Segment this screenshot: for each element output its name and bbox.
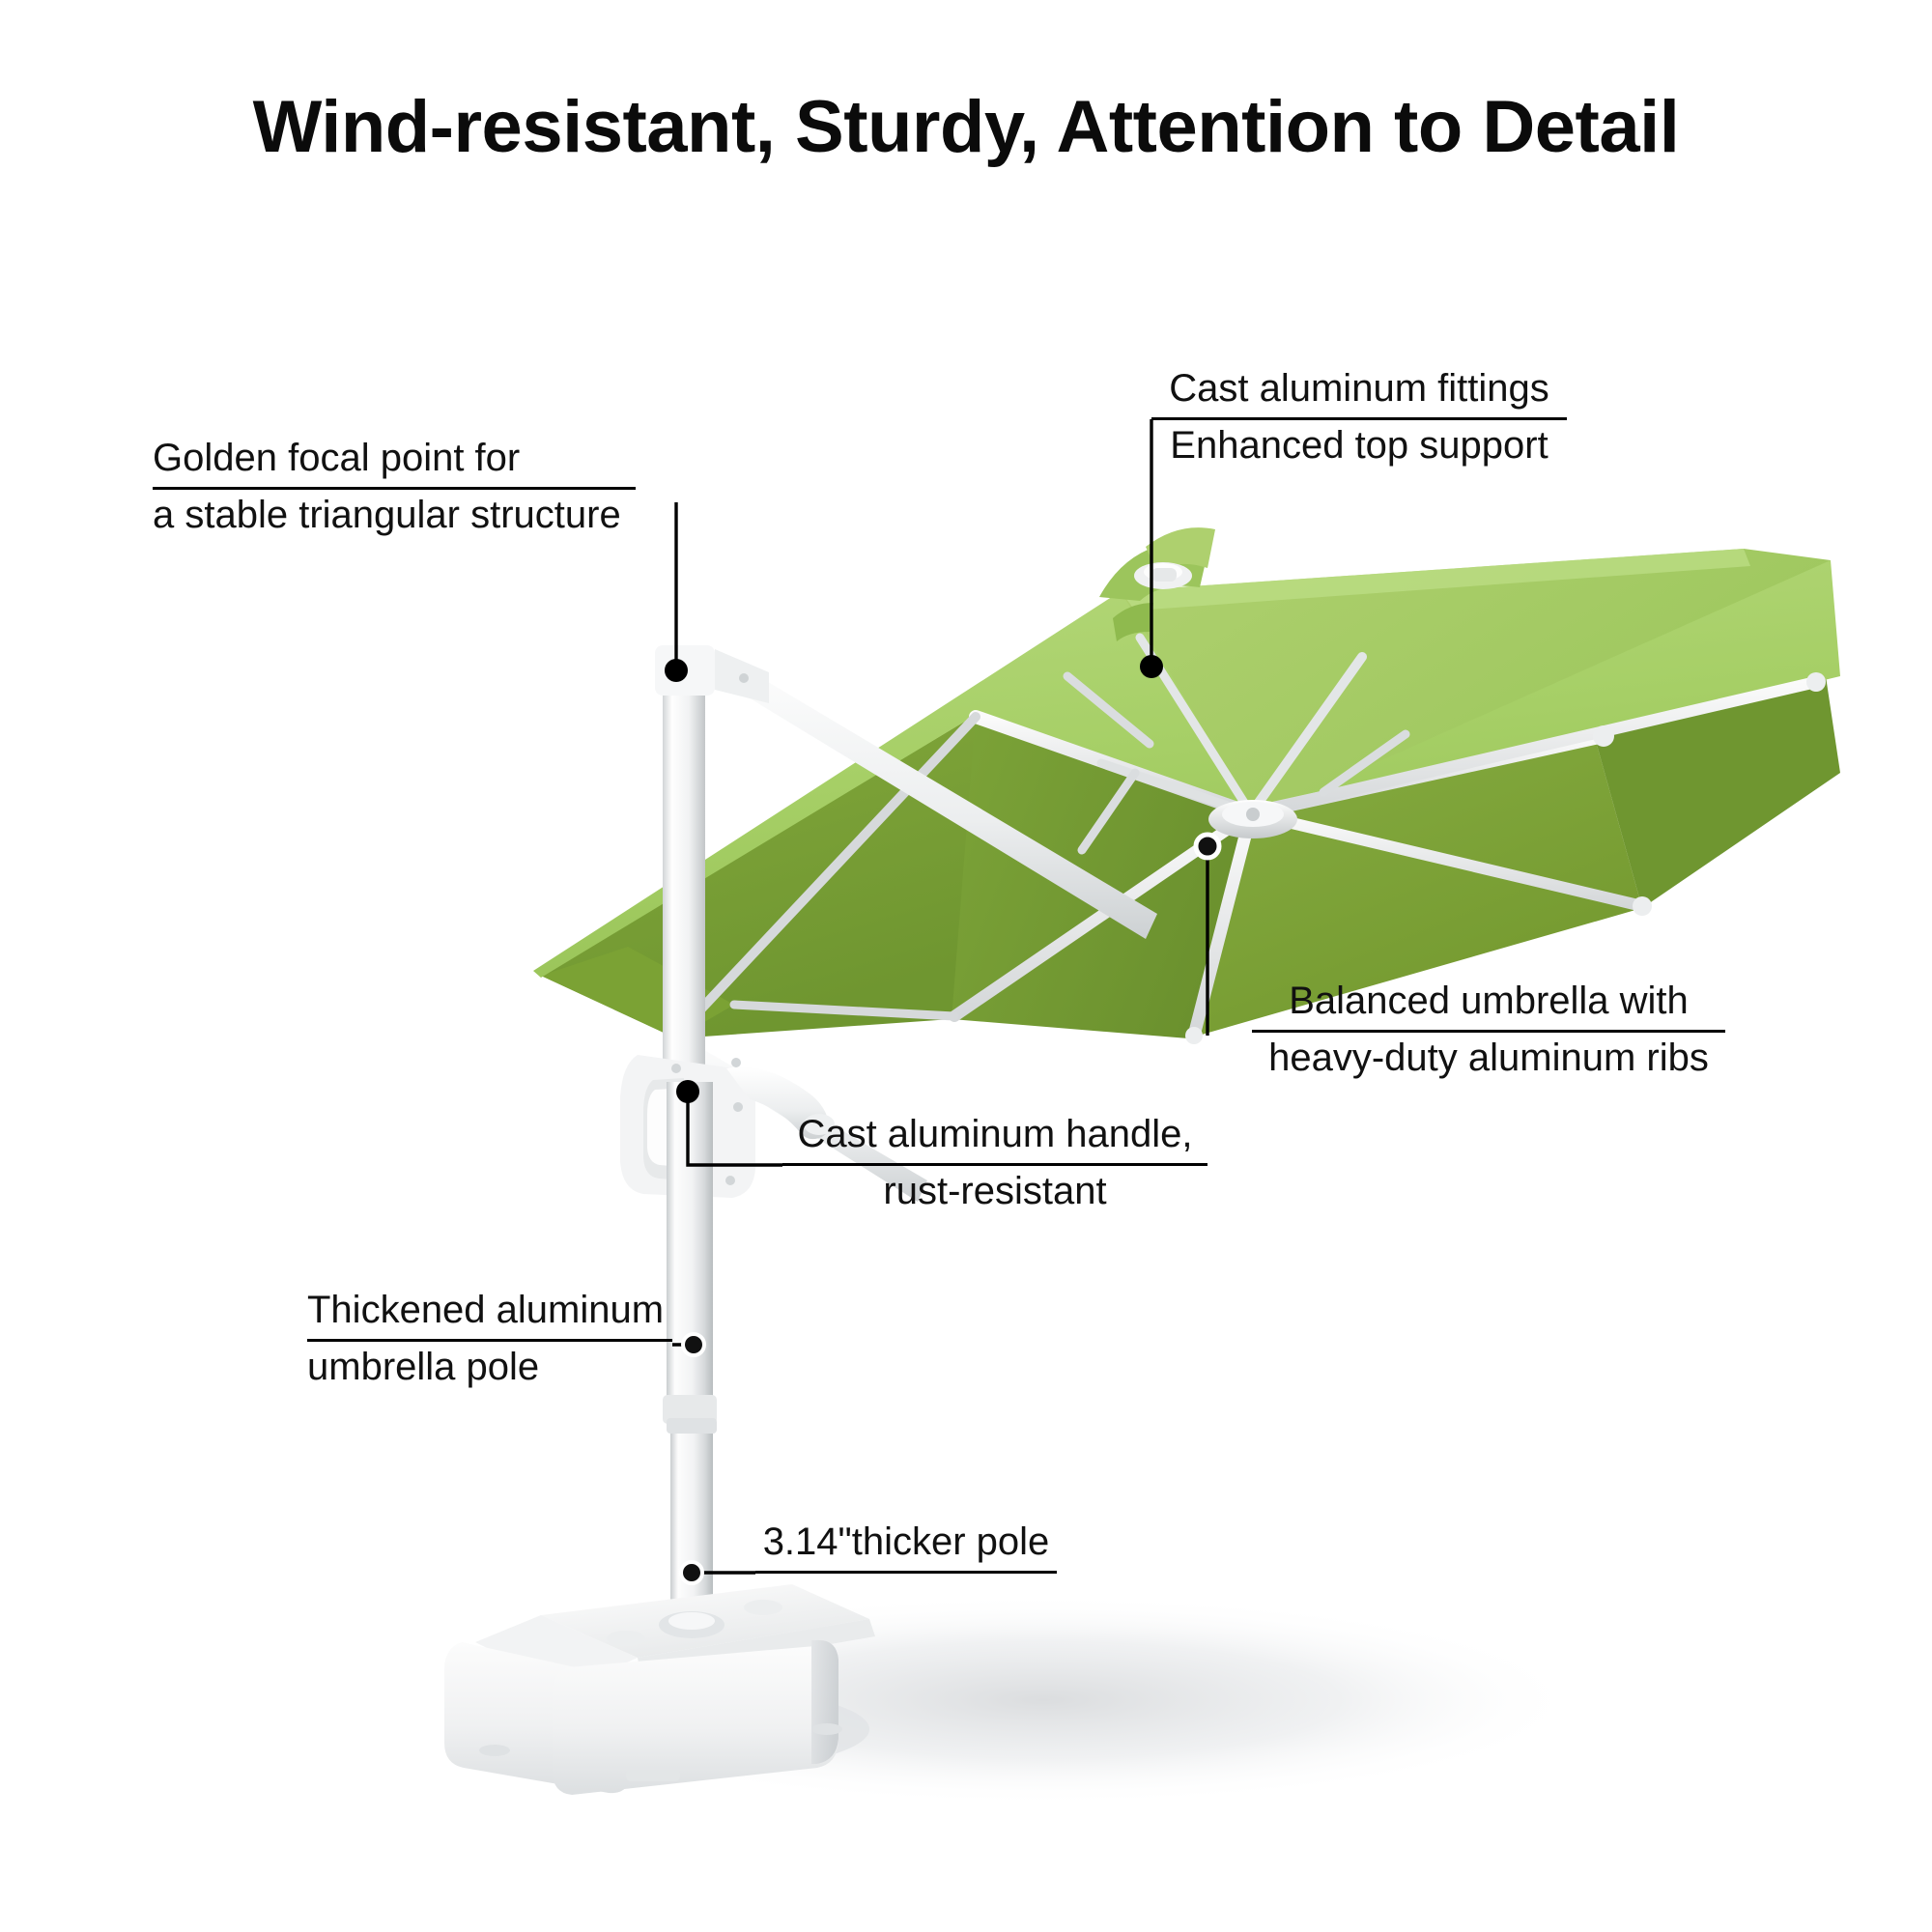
- callout-line-2: heavy-duty aluminum ribs: [1252, 1033, 1725, 1087]
- callout-line-1: Thickened aluminum: [307, 1285, 672, 1339]
- callout-balanced-umbrella: Balanced umbrella with heavy-duty alumin…: [1252, 976, 1725, 1087]
- callout-cast-aluminum-fittings: Cast aluminum fittings Enhanced top supp…: [1151, 363, 1567, 474]
- upper-pole: [667, 1082, 713, 1401]
- canopy-top-fitting: [1134, 562, 1192, 589]
- callout-line-1: Cast aluminum handle,: [782, 1109, 1207, 1163]
- mast-top-joint: [655, 645, 715, 696]
- callout-line-1: Balanced umbrella with: [1252, 976, 1725, 1030]
- callout-thicker-pole-measure: 3.14"thicker pole: [755, 1517, 1057, 1574]
- callout-thickened-aluminum-pole: Thickened aluminum umbrella pole: [307, 1285, 672, 1396]
- callout-line-2: rust-resistant: [782, 1166, 1207, 1220]
- mast: [663, 655, 705, 1092]
- product-illustration: [0, 0, 1932, 1932]
- infographic-page: Wind-resistant, Sturdy, Attention to Det…: [0, 0, 1932, 1932]
- callout-line-2: Enhanced top support: [1151, 420, 1567, 474]
- callout-line-1: 3.14"thicker pole: [755, 1517, 1057, 1571]
- callout-line-2: a stable triangular structure: [153, 490, 636, 544]
- umbrella-base: [444, 1584, 875, 1795]
- callout-golden-focal-point: Golden focal point for a stable triangul…: [153, 433, 636, 544]
- callout-cast-aluminum-handle: Cast aluminum handle, rust-resistant: [782, 1109, 1207, 1220]
- pole-collar-lower: [667, 1418, 717, 1434]
- callout-line-2: umbrella pole: [307, 1342, 672, 1396]
- callout-rule: [755, 1571, 1057, 1574]
- callout-line-1: Cast aluminum fittings: [1151, 363, 1567, 417]
- callout-line-1: Golden focal point for: [153, 433, 636, 487]
